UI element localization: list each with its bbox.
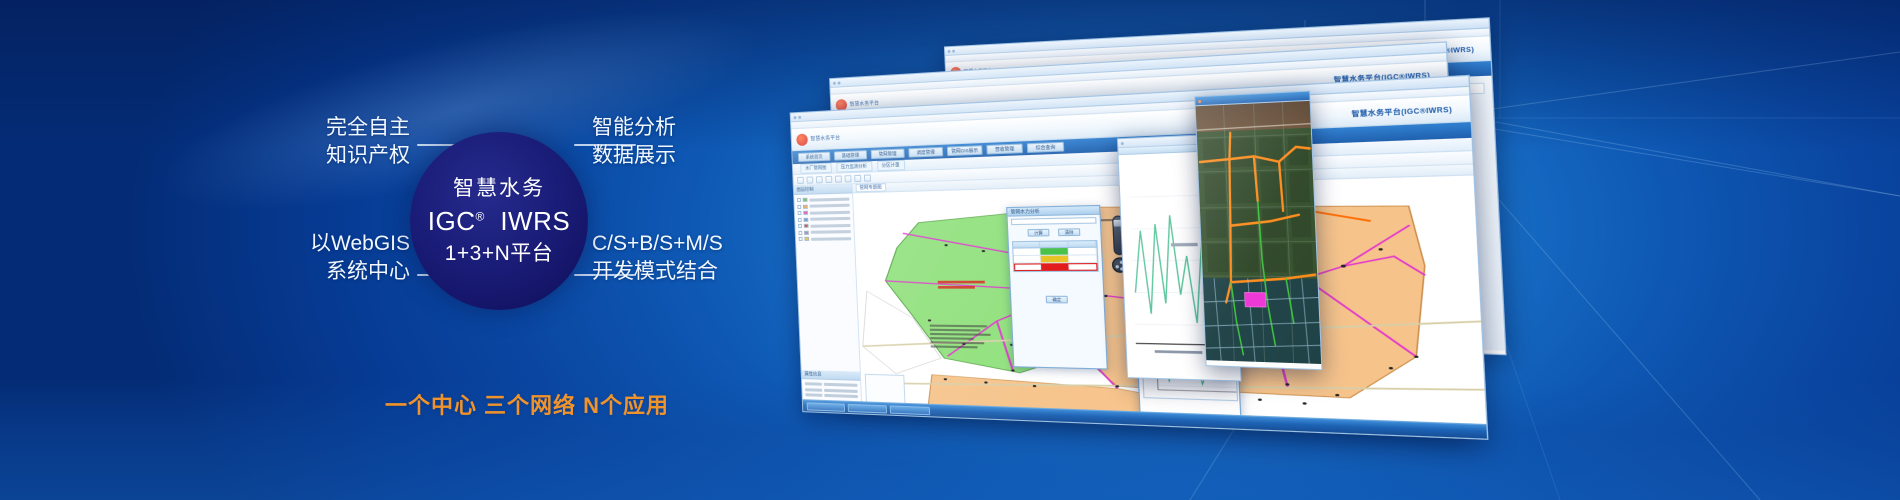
taskbar-item[interactable]	[890, 405, 931, 415]
app-window-satellite[interactable]	[1194, 91, 1322, 371]
zoom-out-tool-icon[interactable]	[816, 176, 823, 183]
status-cell-yellow	[1041, 256, 1069, 263]
clear-button[interactable]: 清除	[1058, 228, 1080, 236]
dialog-footer: 确定	[1011, 296, 1103, 304]
layer-tool-icon[interactable]	[864, 174, 871, 181]
map-tab[interactable]: 管网专题图	[856, 183, 886, 192]
node-top-left: 完全自主 知识产权	[282, 114, 410, 171]
checkbox-icon[interactable]	[798, 211, 802, 215]
layer-swatch	[804, 230, 809, 234]
node-bottom-left: 以WebGIS 系统中心	[262, 230, 410, 287]
satellite-map-body[interactable]	[1196, 101, 1322, 364]
print-tool-icon[interactable]	[854, 174, 861, 181]
window-dot-icon	[794, 116, 797, 119]
table-row-selected[interactable]	[1014, 263, 1098, 271]
attribute-value	[824, 383, 858, 387]
dialog-input[interactable]	[1011, 217, 1097, 225]
status-cell-red	[1041, 263, 1069, 270]
core-product-name: IGC® IWRS	[428, 208, 570, 234]
table-header-cell	[1040, 241, 1068, 247]
core-title: 智慧水务	[453, 178, 545, 199]
layer-label	[811, 230, 851, 234]
core-product-prefix: IGC	[428, 206, 476, 236]
layer-item[interactable]	[798, 223, 850, 228]
layer-swatch	[803, 211, 808, 215]
table-cell	[1014, 256, 1042, 263]
nav-button[interactable]: 营收管理	[986, 143, 1023, 154]
table-header-cell	[1013, 242, 1041, 248]
sub-tab[interactable]: 压力监测分析	[836, 161, 872, 172]
nav-button[interactable]: 管网管理	[871, 148, 905, 159]
window-dot-icon	[798, 115, 801, 118]
checkbox-icon[interactable]	[798, 230, 802, 234]
layer-item[interactable]	[798, 216, 850, 221]
hydraulic-analysis-dialog[interactable]: 管网水力分析 计算 清除	[1006, 205, 1108, 370]
nav-button[interactable]: 基础管理	[834, 150, 867, 160]
result-table[interactable]	[1012, 240, 1099, 272]
core-circle: 智慧水务 IGC® IWRS 1+3+N平台	[410, 132, 588, 310]
window-dot-icon	[833, 81, 836, 84]
checkbox-icon[interactable]	[797, 198, 801, 202]
zoom-in-tool-icon[interactable]	[806, 176, 813, 183]
layer-label	[810, 223, 850, 227]
nav-button[interactable]: 调度管理	[908, 147, 943, 158]
attribute-key	[805, 382, 822, 386]
banner-stage: 完全自主 知识产权 智能分析 数据展示 以WebGIS 系统中心 C/S+B/S…	[0, 0, 1900, 500]
nav-button[interactable]: 综合查询	[1027, 142, 1064, 153]
layer-swatch	[803, 198, 808, 202]
nav-button[interactable]: 管网GIS展示	[947, 145, 983, 156]
brand-name-mid: 智慧水务平台	[850, 99, 880, 107]
layer-swatch	[804, 224, 809, 228]
confirm-button[interactable]: 确定	[1046, 296, 1068, 304]
checkbox-icon[interactable]	[799, 237, 803, 241]
layer-item[interactable]	[799, 236, 852, 241]
node-top-right-line2: 数据展示	[592, 142, 772, 170]
app-title-front: 智慧水务平台(IGC®IWRS)	[1351, 104, 1452, 119]
layer-label	[811, 237, 851, 241]
core-diagram: 完全自主 知识产权 智能分析 数据展示 以WebGIS 系统中心 C/S+B/S…	[262, 96, 792, 346]
node-bottom-right-line1: C/S+B/S+M/S	[592, 230, 792, 258]
pan-left-icon[interactable]	[1115, 265, 1119, 268]
app-window-stack: 智慧水务平台 智慧水务平台(IGC®IWRS) 系统首页 基础管理 管网管理 调…	[770, 40, 1600, 440]
select-tool-icon[interactable]	[825, 175, 832, 182]
identify-tool-icon[interactable]	[845, 175, 852, 182]
layer-label	[810, 210, 850, 214]
taskbar-item[interactable]	[848, 403, 887, 413]
nav-button[interactable]: 系统首页	[798, 152, 831, 162]
node-bottom-right: C/S+B/S+M/S 开发模式结合	[592, 230, 792, 287]
company-logo-icon	[796, 133, 808, 146]
core-platform: 1+3+N平台	[445, 243, 554, 264]
satellite-map-canvas[interactable]	[1196, 101, 1322, 364]
layer-item[interactable]	[798, 210, 850, 215]
node-bottom-right-line2: 开发模式结合	[592, 258, 792, 286]
layer-tree[interactable]	[794, 193, 854, 244]
attribute-value	[824, 388, 858, 392]
brand-name-front: 智慧水务平台	[810, 134, 840, 142]
window-dot-icon	[952, 49, 955, 52]
checkbox-icon[interactable]	[798, 217, 802, 221]
status-cell-green	[1041, 248, 1069, 255]
layer-item[interactable]	[797, 203, 849, 208]
attribute-value	[824, 394, 858, 398]
layer-swatch	[804, 237, 809, 241]
table-cell	[1014, 263, 1042, 270]
node-top-left-line1: 完全自主	[282, 114, 410, 142]
selected-parcel	[1245, 292, 1267, 307]
layer-swatch	[803, 217, 808, 221]
taskbar-item[interactable]	[807, 402, 845, 412]
node-top-right: 智能分析 数据展示	[592, 114, 772, 171]
window-dot-icon	[838, 81, 841, 84]
layer-control-panel[interactable]: 图层控制 属性信息	[794, 184, 863, 412]
table-cell	[1013, 248, 1041, 255]
layer-item[interactable]	[797, 197, 849, 202]
table-cell	[1068, 248, 1097, 255]
layer-swatch	[803, 204, 808, 208]
calculate-button[interactable]: 计算	[1027, 229, 1049, 237]
window-close-icon[interactable]	[1198, 100, 1201, 103]
node-bottom-left-line1: 以WebGIS	[262, 230, 410, 258]
node-top-left-line2: 知识产权	[282, 142, 410, 170]
attribute-row	[805, 393, 858, 398]
registered-mark-icon: ®	[476, 209, 485, 223]
layer-item[interactable]	[798, 230, 850, 235]
layer-label	[809, 197, 849, 201]
node-bottom-left-line2: 系统中心	[262, 258, 410, 286]
satellite-imagery	[1196, 101, 1322, 364]
attribute-row	[805, 388, 858, 393]
node-top-right-line1: 智能分析	[592, 114, 772, 142]
checkbox-icon[interactable]	[798, 224, 802, 228]
layer-label	[810, 217, 850, 221]
table-header-cell	[1068, 241, 1096, 247]
pan-tool-icon[interactable]	[797, 176, 804, 183]
tagline: 一个中心 三个网络 N个应用	[262, 388, 792, 420]
attribute-key	[805, 393, 822, 397]
window-dot-icon	[948, 49, 951, 52]
table-cell	[1069, 255, 1098, 262]
layer-label	[810, 204, 850, 208]
sub-tab[interactable]: 水厂管网图	[800, 163, 831, 174]
table-cell	[1069, 263, 1098, 270]
sub-tab[interactable]: 分区计量	[877, 160, 905, 171]
measure-tool-icon[interactable]	[835, 175, 842, 182]
attribute-key	[805, 388, 822, 392]
dialog-button-row: 计算 清除	[1008, 226, 1101, 239]
attribute-row	[805, 382, 858, 387]
window-dot-icon	[1121, 142, 1124, 145]
checkbox-icon[interactable]	[797, 204, 801, 208]
core-product-suffix: IWRS	[500, 206, 570, 236]
